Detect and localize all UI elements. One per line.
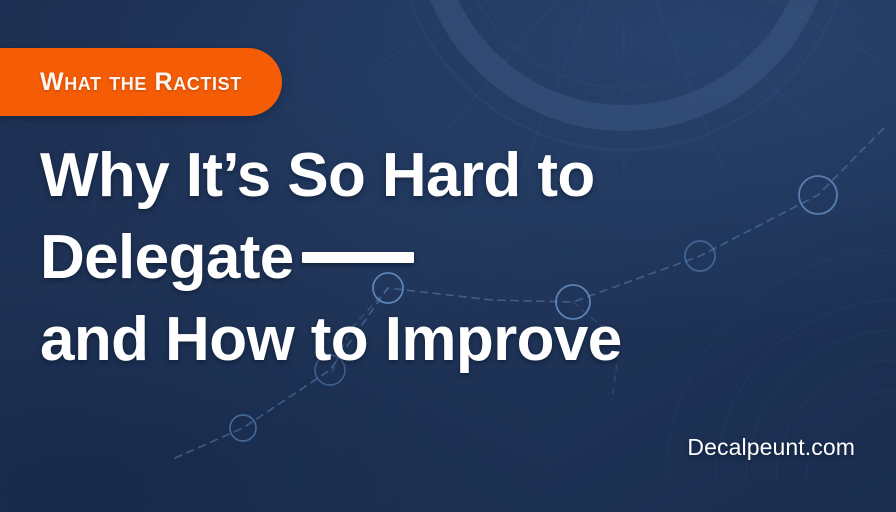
headline-line-3: and How to Improve	[40, 298, 800, 380]
headline-line-2-text: Delegate	[40, 222, 294, 293]
arc-ring-decoration	[396, 0, 852, 150]
headline-line-1: Why It’s So Hard to	[40, 134, 800, 216]
headline-line-3-text: and How to Improve	[40, 304, 622, 375]
em-dash-rule	[302, 252, 414, 263]
eyebrow-badge: What the Ractist	[0, 48, 282, 116]
hero-card: What the Ractist Why It’s So Hard to Del…	[0, 0, 896, 512]
headline-line-1-text: Why It’s So Hard to	[40, 140, 595, 211]
eyebrow-badge-label: What the Ractist	[40, 68, 242, 97]
brand-watermark: Decalpeunt.com	[687, 434, 855, 461]
headline-line-2: Delegate	[40, 216, 800, 298]
headline: Why It’s So Hard to Delegate and How to …	[40, 134, 800, 380]
